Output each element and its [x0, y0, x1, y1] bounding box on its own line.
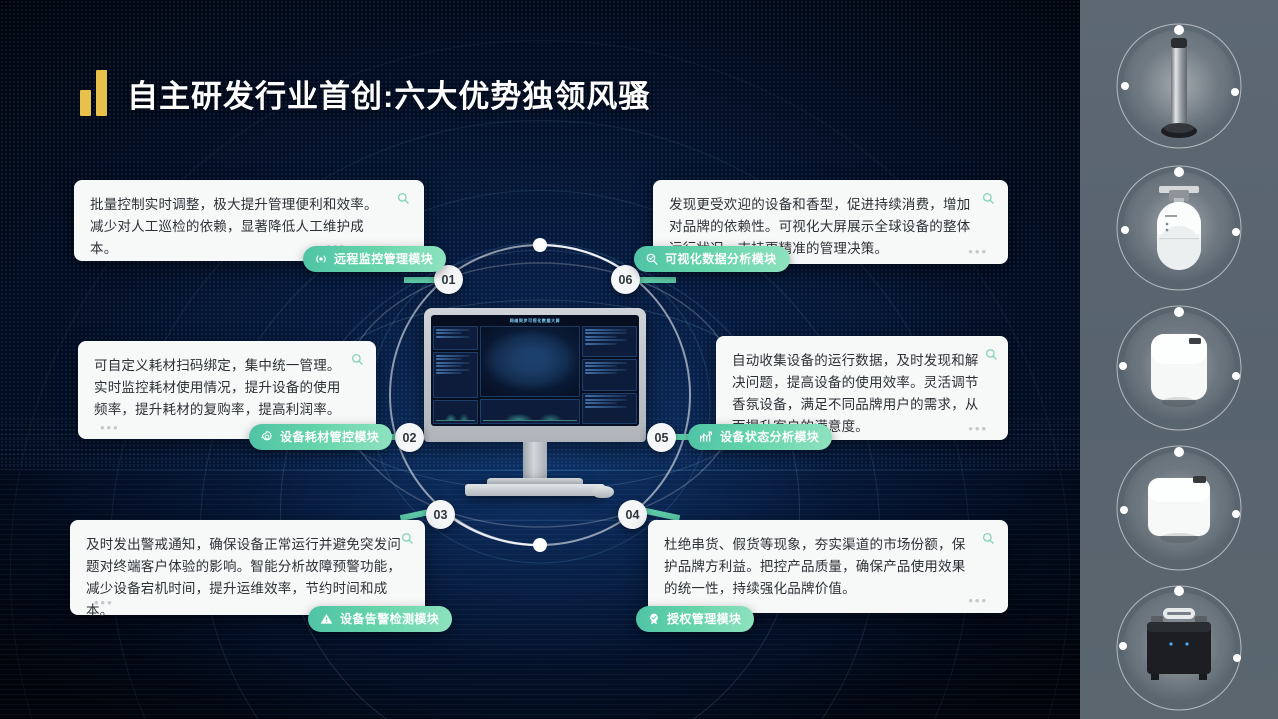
dashboard-title: 网络同步可视化数据大屏: [431, 315, 639, 324]
card-dots-05: •••: [968, 424, 988, 434]
search-check-icon: [645, 252, 659, 266]
trending-up-icon: [699, 430, 714, 444]
sidebar-item-wall-diffuser[interactable]: [1103, 292, 1255, 444]
search-icon[interactable]: [982, 192, 995, 205]
module-tag-label-06: 可视化数据分析模块: [665, 246, 777, 272]
sidebar-item-hvac-diffuser[interactable]: [1103, 152, 1255, 304]
monitor-screen: 网络同步可视化数据大屏: [431, 315, 639, 426]
number-badge-06: 06: [611, 265, 640, 294]
feature-text-04: 杜绝串货、假货等现象，夯实渠道的市场份额，保护品牌方利益。把控产品质量，确保产品…: [664, 534, 974, 600]
tech-background: 自主研发行业首创:六大优势独领风骚 网络同步可视化数据大屏: [0, 0, 1080, 719]
product-sidebar: [1080, 0, 1278, 719]
certificate-icon: [647, 612, 661, 626]
feature-card-03[interactable]: 及时发出警戒通知，确保设备正常运行并避免突发问题对终端客户体验的影响。智能分析故…: [70, 520, 425, 615]
slide-root: 自主研发行业首创:六大优势独领风骚 网络同步可视化数据大屏: [0, 0, 1278, 719]
card-dots-03: •••: [94, 598, 114, 608]
dashboard-stats-panel: [433, 326, 478, 350]
card-dots-04: •••: [968, 596, 988, 606]
connector-06: [636, 277, 676, 283]
dashboard-table-top: [582, 326, 637, 357]
number-badge-05: 05: [647, 423, 676, 452]
search-icon[interactable]: [351, 353, 364, 366]
dashboard-monitor: 网络同步可视化数据大屏: [424, 308, 646, 513]
card-dots-02: •••: [100, 423, 120, 433]
monitor-bezel: 网络同步可视化数据大屏: [424, 308, 646, 442]
warning-triangle-icon: [319, 612, 334, 626]
mouse: [592, 486, 614, 498]
product-compact-icon: [1103, 432, 1255, 584]
module-tag-05[interactable]: 设备状态分析模块: [688, 424, 832, 450]
dashboard-world-map: [480, 326, 580, 397]
module-tag-label-02: 设备耗材管控模块: [280, 424, 379, 450]
module-tag-label-01: 远程监控管理模块: [334, 246, 433, 272]
dashboard-kpi-panel: [433, 352, 478, 398]
module-tag-02[interactable]: 设备耗材管控模块: [249, 424, 392, 450]
module-tag-label-03: 设备告警检测模块: [340, 606, 439, 632]
feature-card-04[interactable]: 杜绝串货、假货等现象，夯实渠道的市场份额，保护品牌方利益。把控产品质量，确保产品…: [648, 520, 1008, 613]
feature-text-02: 可自定义耗材扫码绑定，集中统一管理。实时监控耗材使用情况，提升设备的使用频率，提…: [94, 355, 346, 421]
sidebar-item-compact-diffuser[interactable]: [1103, 432, 1255, 584]
number-badge-03: 03: [426, 500, 455, 529]
number-badge-02: 02: [395, 423, 424, 452]
page-title: 自主研发行业首创:六大优势独领风骚: [127, 71, 650, 116]
dashboard-line-chart: [480, 399, 580, 424]
monitor-stand-neck: [523, 442, 547, 480]
dashboard-table-bottom: [582, 393, 637, 424]
module-tag-04[interactable]: 授权管理模块: [636, 606, 754, 632]
broadcast-icon: [314, 252, 328, 266]
page-title-block: 自主研发行业首创:六大优势独领风骚: [80, 70, 650, 116]
card-dots-06: •••: [968, 247, 988, 257]
module-tag-label-05: 设备状态分析模块: [720, 424, 819, 450]
product-industrial-icon: [1103, 572, 1255, 719]
module-tag-label-04: 授权管理模块: [667, 606, 741, 632]
module-tag-03[interactable]: 设备告警检测模块: [308, 606, 452, 632]
sidebar-item-column-diffuser[interactable]: [1103, 10, 1255, 162]
module-tag-06[interactable]: 可视化数据分析模块: [634, 246, 790, 272]
module-tag-01[interactable]: 远程监控管理模块: [303, 246, 446, 272]
search-icon[interactable]: [401, 532, 414, 545]
dashboard-table-mid: [582, 359, 637, 390]
product-hvac-icon: [1103, 152, 1255, 304]
search-icon[interactable]: [397, 192, 410, 205]
number-badge-04: 04: [618, 500, 647, 529]
search-icon[interactable]: [982, 532, 995, 545]
dashboard-trend-panel: [433, 400, 478, 424]
product-column-icon: [1103, 10, 1255, 162]
chart-bars-icon: [80, 70, 107, 116]
product-wall-icon: [1103, 292, 1255, 444]
search-icon[interactable]: [985, 348, 998, 361]
sidebar-item-industrial-diffuser[interactable]: [1103, 572, 1255, 719]
gear-icon: [260, 430, 274, 444]
keyboard: [465, 484, 605, 496]
